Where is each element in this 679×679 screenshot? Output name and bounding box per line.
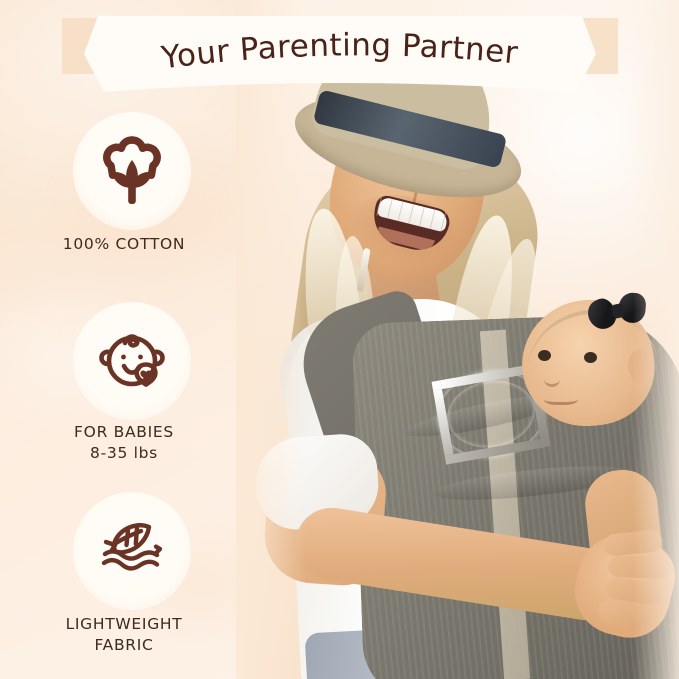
banner-ribbon: Your Parenting Partner (62, 12, 618, 100)
feature-list: 100% COTTON (0, 104, 248, 674)
feature-label-babies: FOR BABIES 8-35 lbs (0, 422, 248, 464)
feature-label-lightweight: LIGHTWEIGHT FABRIC (0, 614, 248, 656)
feature-label-cotton: 100% COTTON (0, 234, 248, 255)
cotton-boll-icon (89, 128, 175, 214)
baby-bow-knot (611, 303, 626, 319)
feature-item-cotton: 100% COTTON (0, 104, 248, 294)
feather-fabric-icon (87, 506, 177, 596)
feature-badge (73, 492, 191, 610)
feature-badge (73, 302, 191, 420)
feature-item-babies: FOR BABIES 8-35 lbs (0, 294, 248, 484)
feature-badge (73, 112, 191, 230)
baby-face-icon (89, 318, 175, 404)
feature-item-lightweight: LIGHTWEIGHT FABRIC (0, 484, 248, 674)
banner: Your Parenting Partner (62, 12, 618, 100)
baby-mouth (544, 392, 578, 405)
photo-right-fade (633, 0, 679, 679)
product-feature-infographic: Your Parenting Partner (0, 0, 679, 679)
lifestyle-photo (236, 0, 679, 679)
